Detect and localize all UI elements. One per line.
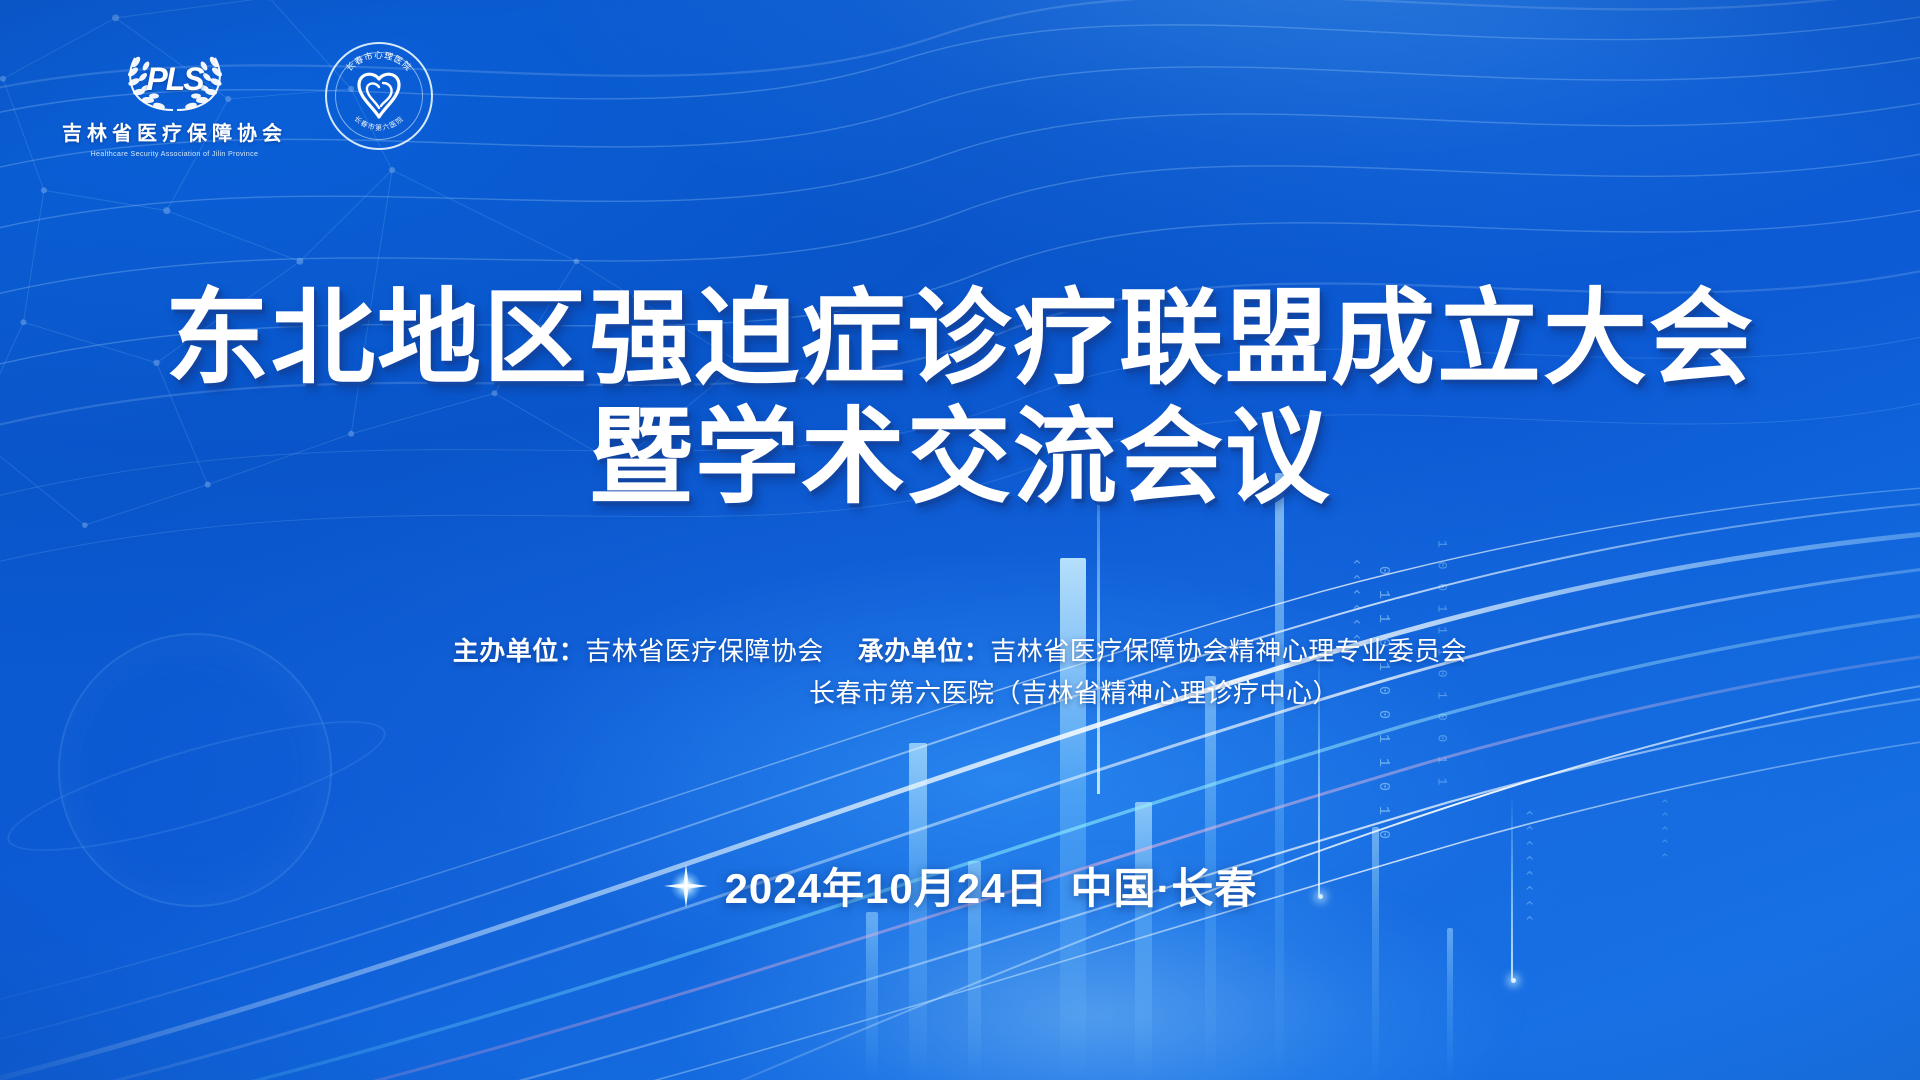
title-line-2: 暨学术交流会议 [0, 399, 1920, 518]
heart-brain-icon [353, 69, 405, 123]
healthcare-association-name-cn: 吉林省医疗保障协会 [62, 117, 287, 146]
page-title: 东北地区强迫症诊疗联盟成立大会 暨学术交流会议 [0, 280, 1920, 517]
organizer-line-2: 长春市第六医院（吉林省精神心理诊疗中心） [0, 672, 1920, 714]
organizers-block: 主办单位：吉林省医疗保障协会承办单位：吉林省医疗保障协会精神心理专业委员会 长春… [0, 630, 1920, 714]
coorganizer-value-2: 长春市第六医院（吉林省精神心理诊疗中心） [809, 678, 1339, 708]
sparkle-star-icon [663, 863, 709, 909]
event-date: 2024年10月24日 [725, 865, 1049, 912]
logo-row: PLS 吉林省医疗保障协会 Healthcare Security Associ… [62, 44, 433, 158]
event-datetime-location: 2024年10月24日中国·长春 [0, 855, 1920, 916]
organizer-line-1: 主办单位：吉林省医疗保障协会承办单位：吉林省医疗保障协会精神心理专业委员会 [0, 630, 1920, 672]
event-location: 中国·长春 [1070, 865, 1257, 912]
hospital-seal-logo: 长春市心理医院 长春市第六医院 [325, 42, 433, 150]
event-date-location-text: 2024年10月24日中国·长春 [725, 855, 1258, 916]
conference-banner: 0 1 1 0 1 0 0 1 1 0 1 0 1 0 0 1 1 1 0 1 … [0, 0, 1920, 1080]
coorganizer-label: 承办单位： [858, 636, 991, 666]
laurel-wreath-icon: PLS [105, 44, 245, 114]
host-label: 主办单位： [453, 636, 586, 666]
healthcare-association-logo: PLS 吉林省医疗保障协会 Healthcare Security Associ… [62, 44, 287, 158]
title-line-1: 东北地区强迫症诊疗联盟成立大会 [0, 280, 1920, 399]
healthcare-association-name-en: Healthcare Security Association of Jilin… [91, 149, 259, 158]
host-value: 吉林省医疗保障协会 [585, 636, 824, 666]
background-vignette [0, 0, 1920, 1080]
coorganizer-value: 吉林省医疗保障协会精神心理专业委员会 [990, 636, 1467, 666]
pls-monogram: PLS [146, 61, 202, 98]
